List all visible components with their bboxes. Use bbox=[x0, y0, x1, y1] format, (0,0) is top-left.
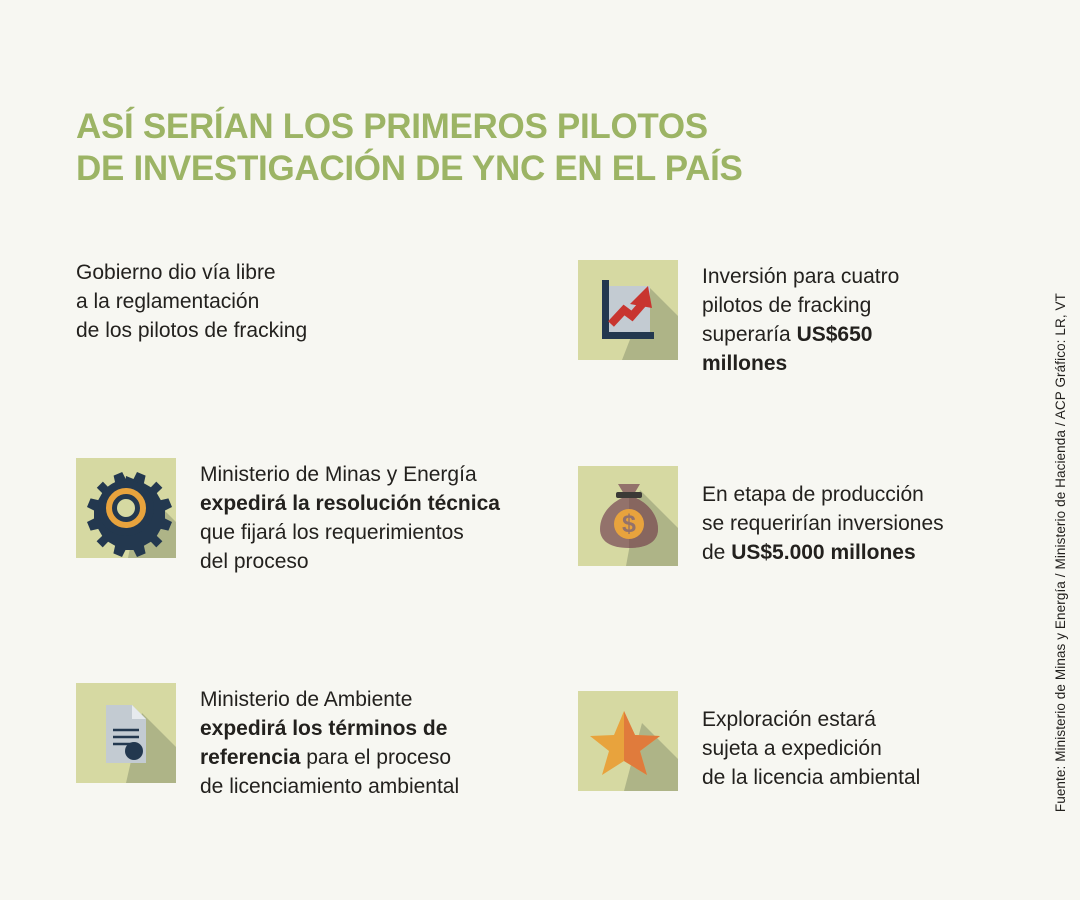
text-line: de licenciamiento ambiental bbox=[200, 775, 459, 798]
page-title: Así serían los primeros pilotos de inves… bbox=[76, 106, 896, 190]
text-highlight: US$650 bbox=[797, 323, 873, 346]
text-line: de la licencia ambiental bbox=[702, 766, 920, 789]
text-line: que fijará los requerimientos bbox=[200, 521, 464, 544]
info-item-text: Ministerio de Ambiente expedirá los térm… bbox=[200, 683, 540, 801]
page-title-line-1: Así serían los primeros pilotos bbox=[76, 106, 896, 148]
text-line: Gobierno dio vía libre bbox=[76, 261, 276, 284]
text-line: de los pilotos de fracking bbox=[76, 319, 307, 342]
info-item-ambiente: Ministerio de Ambiente expedirá los térm… bbox=[76, 683, 546, 801]
source-credit-text: Fuente: Ministerio de Minas y Energía / … bbox=[1053, 293, 1068, 812]
text-line: del proceso bbox=[200, 550, 309, 573]
text-line: se requerirían inversiones bbox=[702, 512, 944, 535]
text-line: Exploración estará bbox=[702, 708, 876, 731]
source-credit: Fuente: Ministerio de Minas y Energía / … bbox=[1046, 252, 1074, 812]
text-line: sujeta a expedición bbox=[702, 737, 882, 760]
info-item-text: Exploración estará sujeta a expedición d… bbox=[702, 691, 970, 792]
text-line: Ministerio de Ambiente bbox=[200, 688, 412, 711]
document-seal-icon bbox=[76, 683, 176, 783]
icon-tile bbox=[578, 691, 678, 791]
info-item-produccion: $ En etapa de producción se requerirían … bbox=[578, 466, 978, 567]
icon-tile bbox=[76, 683, 176, 783]
text-line: de bbox=[702, 541, 731, 564]
info-item-text: En etapa de producción se requerirían in… bbox=[702, 466, 974, 567]
text-line: En etapa de producción bbox=[702, 483, 924, 506]
svg-text:$: $ bbox=[622, 510, 636, 538]
text-highlight: expedirá la resolución técnica bbox=[200, 492, 500, 515]
info-item-minas-energia: Ministerio de Minas y Energía expedirá l… bbox=[76, 458, 546, 576]
infographic-page: Así serían los primeros pilotos de inves… bbox=[0, 0, 1080, 900]
info-item-text: Gobierno dio vía libre a la reglamentaci… bbox=[76, 258, 307, 345]
text-highlight: expedirá los términos de bbox=[200, 717, 447, 740]
icon-tile: $ bbox=[578, 466, 678, 566]
info-item-exploracion: Exploración estará sujeta a expedición d… bbox=[578, 691, 978, 792]
info-item-text: Ministerio de Minas y Energía expedirá l… bbox=[200, 458, 545, 576]
info-item-gobierno: Gobierno dio vía libre a la reglamentaci… bbox=[76, 258, 496, 345]
gear-icon bbox=[76, 458, 176, 558]
growth-chart-icon bbox=[578, 260, 678, 360]
icon-tile bbox=[76, 458, 176, 558]
text-line: superaría bbox=[702, 323, 797, 346]
text-highlight: millones bbox=[702, 352, 787, 375]
text-highlight: US$5.000 millones bbox=[731, 541, 915, 564]
text-highlight: referencia bbox=[200, 746, 300, 769]
text-line: Ministerio de Minas y Energía bbox=[200, 463, 477, 486]
text-line: pilotos de fracking bbox=[702, 294, 871, 317]
text-line: Inversión para cuatro bbox=[702, 265, 899, 288]
page-title-line-2: de investigación de YNC en el país bbox=[76, 148, 896, 190]
star-icon bbox=[578, 691, 678, 791]
text-line: a la reglamentación bbox=[76, 290, 259, 313]
icon-tile bbox=[578, 260, 678, 360]
info-item-text: Inversión para cuatro pilotos de frackin… bbox=[702, 260, 970, 378]
money-bag-icon: $ bbox=[578, 466, 678, 566]
info-item-inversion: Inversión para cuatro pilotos de frackin… bbox=[578, 260, 978, 378]
text-line: para el proceso bbox=[300, 746, 451, 769]
